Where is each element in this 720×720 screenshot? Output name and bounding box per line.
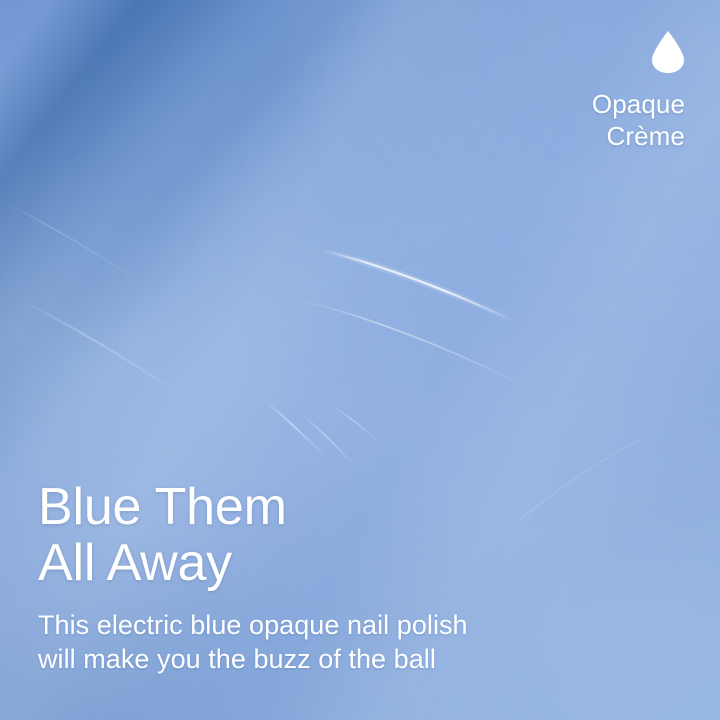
badge-label-line-1: Opaque bbox=[455, 88, 685, 120]
product-finish-badge: Opaque Crème bbox=[455, 30, 685, 152]
product-promo-card: Opaque Crème Blue Them All Away This ele… bbox=[0, 0, 720, 720]
promo-copy-block: Blue Them All Away This electric blue op… bbox=[38, 480, 678, 676]
subcopy: This electric blue opaque nail polish wi… bbox=[38, 608, 678, 676]
headline-line-2: All Away bbox=[38, 536, 678, 592]
subcopy-line-1: This electric blue opaque nail polish bbox=[38, 608, 678, 642]
badge-label-line-2: Crème bbox=[455, 120, 685, 152]
headline: Blue Them All Away bbox=[38, 480, 678, 592]
badge-label: Opaque Crème bbox=[455, 88, 685, 152]
droplet-icon bbox=[651, 30, 685, 74]
subcopy-line-2: will make you the buzz of the ball bbox=[38, 642, 678, 676]
headline-line-1: Blue Them bbox=[38, 480, 678, 536]
